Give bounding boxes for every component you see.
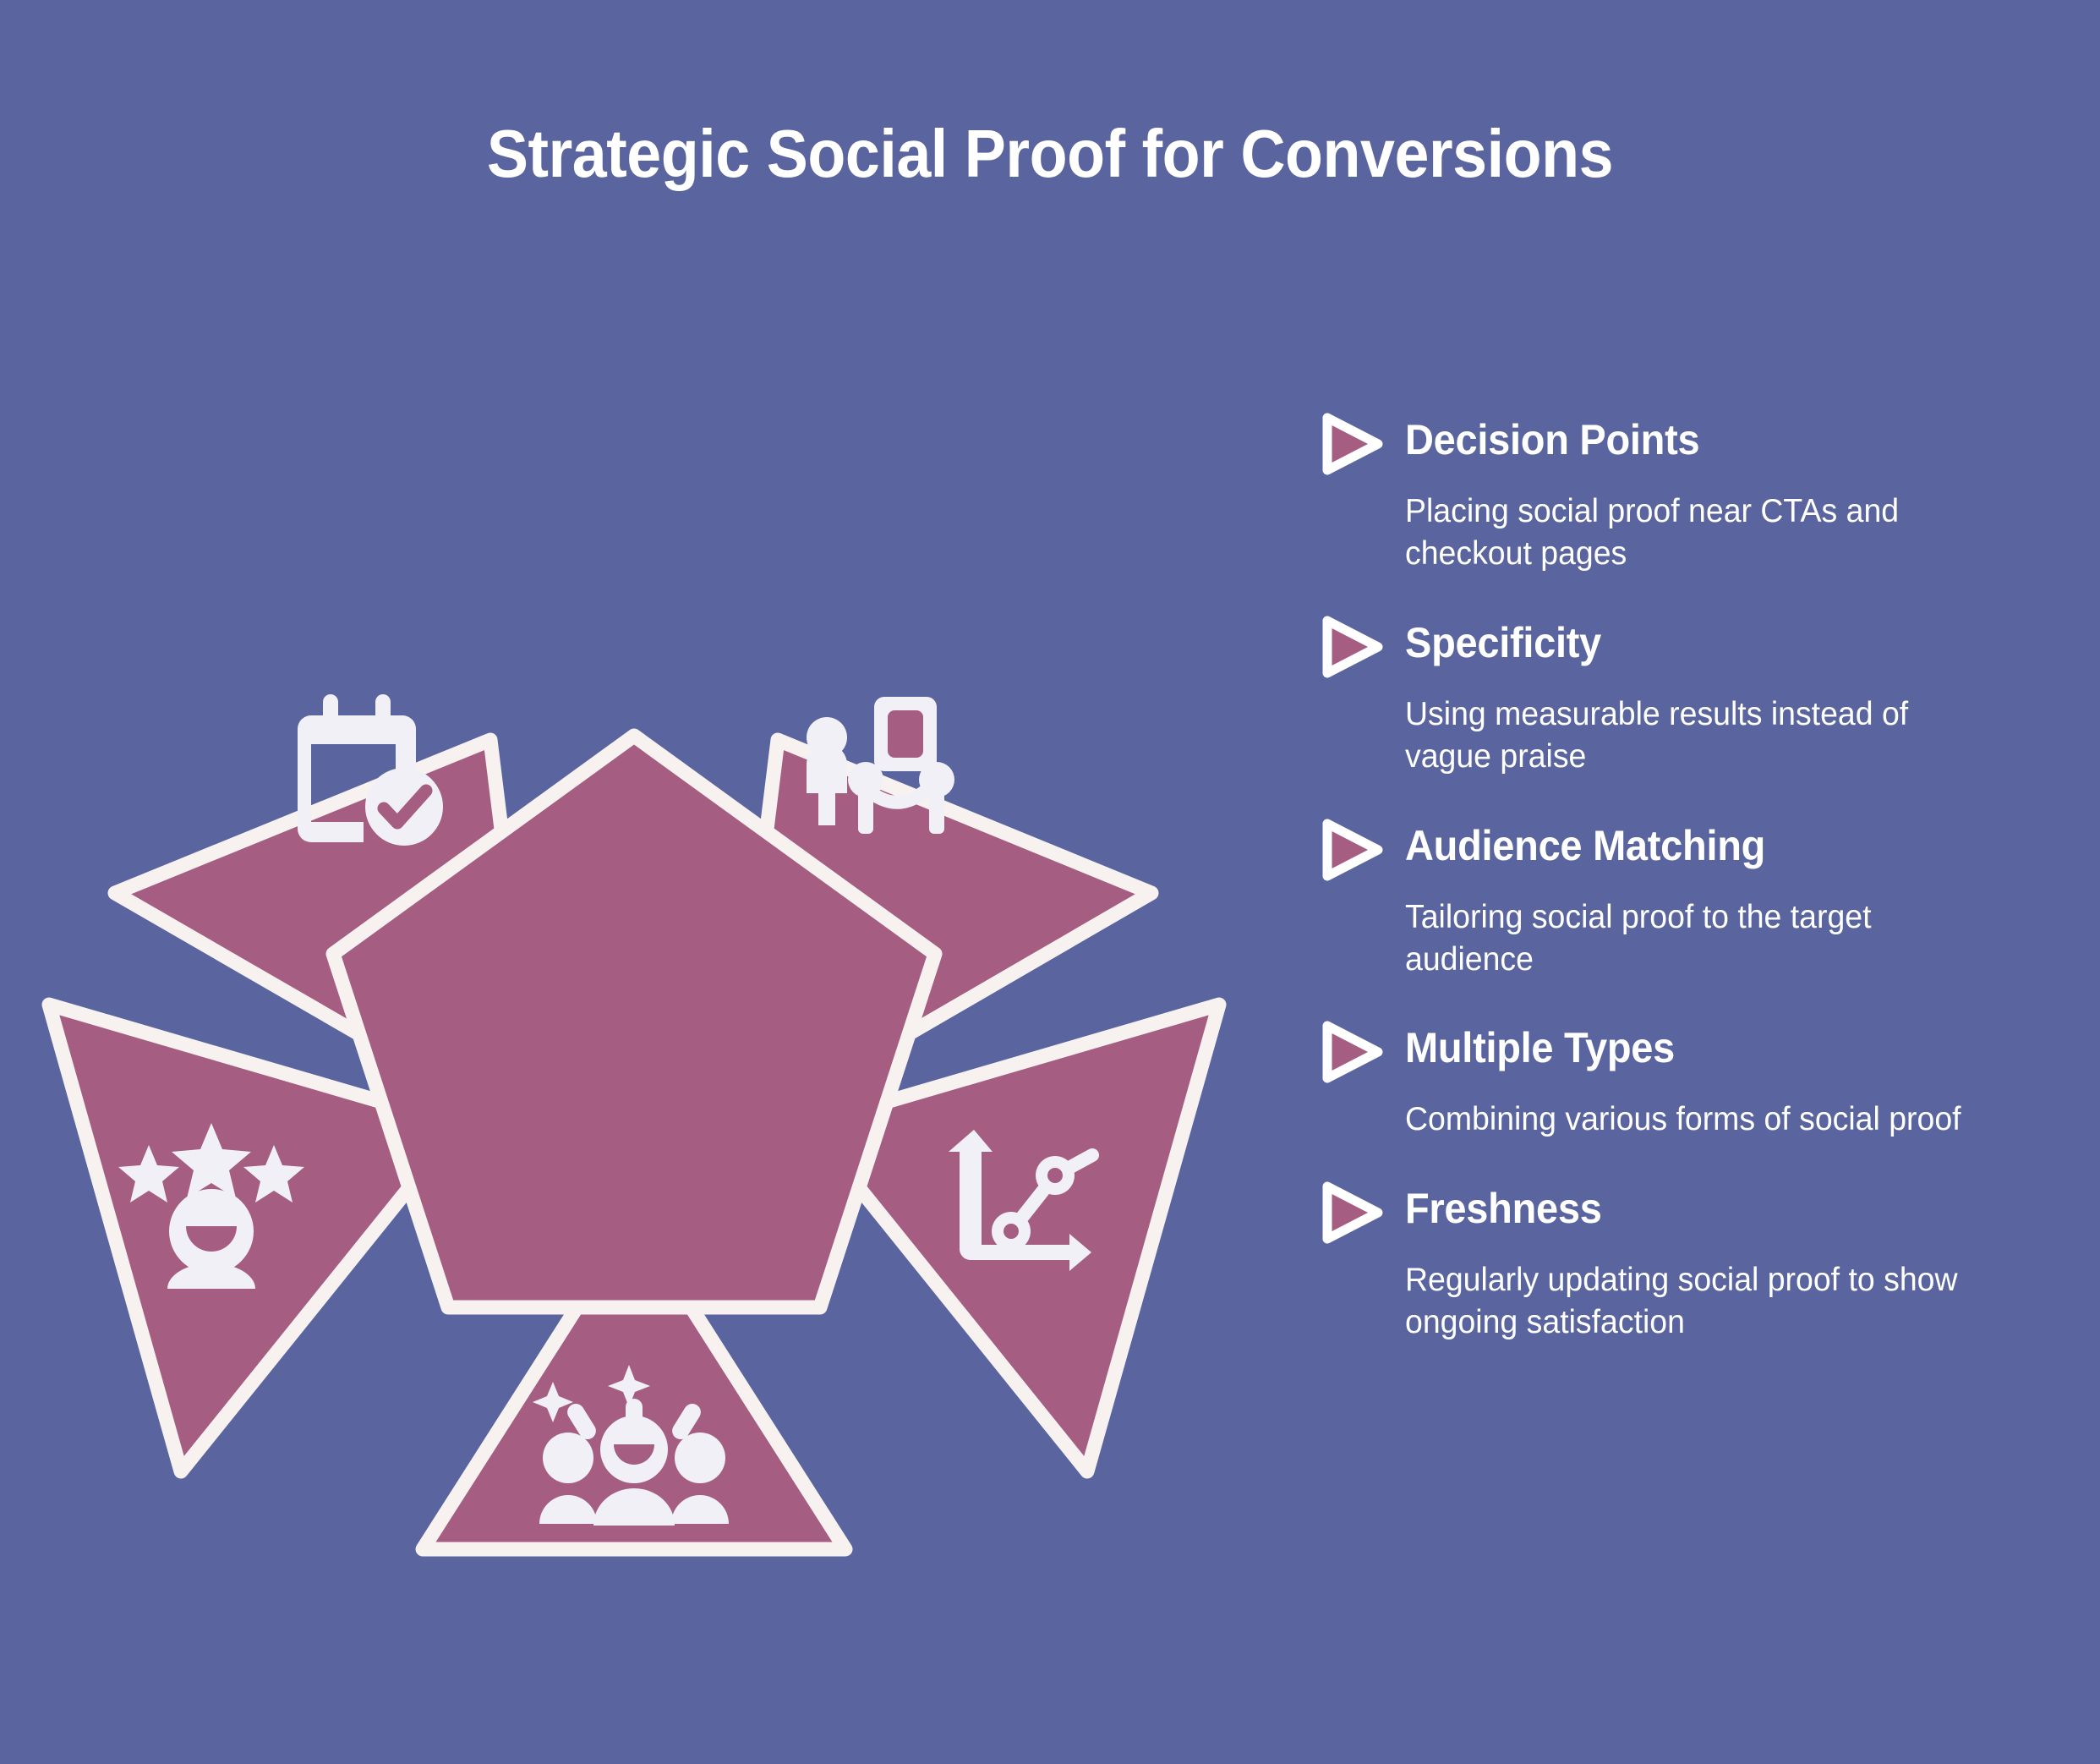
point-description: Tailoring social proof to the target aud… (1405, 896, 1973, 981)
point-header: Freshness (1319, 1183, 2012, 1246)
triangle-right-icon (1319, 817, 1385, 883)
page-title: Strategic Social Proof for Conversions (84, 115, 2015, 193)
list-item[interactable]: Decision Points Placing social proof nea… (1319, 414, 2012, 575)
list-item[interactable]: Specificity Using measurable results ins… (1319, 617, 2012, 778)
triangle-right-icon (1319, 614, 1385, 680)
point-title: Specificity (1405, 617, 1601, 666)
point-header: Specificity (1319, 617, 2012, 680)
point-description: Placing social proof near CTAs and check… (1405, 490, 1973, 575)
point-header: Audience Matching (1319, 820, 2012, 883)
triangle-right-icon (1319, 1019, 1385, 1085)
points-list: Decision Points Placing social proof nea… (1319, 414, 2012, 1344)
point-header: Decision Points (1319, 414, 2012, 477)
triangle-right-icon (1319, 411, 1385, 477)
point-header: Multiple Types (1319, 1022, 2012, 1085)
point-title: Multiple Types (1405, 1022, 1675, 1071)
point-title: Decision Points (1405, 414, 1699, 463)
point-title: Freshness (1405, 1183, 1602, 1231)
point-description: Combining various forms of social proof (1405, 1098, 1973, 1141)
list-item[interactable]: Freshness Regularly updating social proo… (1319, 1183, 2012, 1344)
point-description: Using measurable results instead of vagu… (1405, 693, 1973, 778)
radial-diagram (34, 457, 1234, 1564)
point-title: Audience Matching (1405, 820, 1765, 868)
list-item[interactable]: Multiple Types Combining various forms o… (1319, 1022, 2012, 1141)
triangle-right-icon (1319, 1180, 1385, 1246)
list-item[interactable]: Audience Matching Tailoring social proof… (1319, 820, 2012, 981)
point-description: Regularly updating social proof to show … (1405, 1259, 1973, 1344)
